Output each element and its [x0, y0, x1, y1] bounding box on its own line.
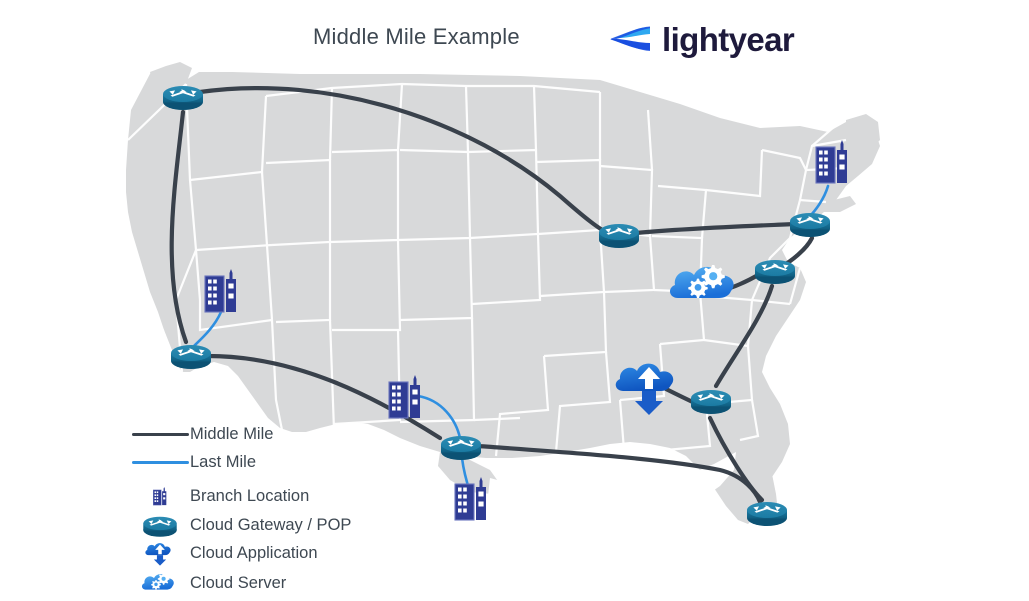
router-pop-icon[interactable] — [691, 390, 731, 414]
cloud-server-icon — [130, 566, 190, 600]
cloud-application-icon — [130, 536, 190, 570]
legend-item-last-mile[interactable]: Last Mile — [130, 453, 256, 472]
router-pop-icon[interactable] — [441, 436, 481, 460]
legend-item-cloud-server[interactable]: Cloud Server — [130, 566, 286, 600]
legend-item-middle-mile[interactable]: Middle Mile — [130, 425, 273, 444]
last-mile-line-icon — [130, 461, 190, 464]
router-pop-icon[interactable] — [747, 502, 787, 526]
router-pop-icon[interactable] — [599, 224, 639, 248]
router-pop-icon[interactable] — [163, 86, 203, 110]
legend-label: Cloud Application — [190, 544, 318, 563]
branch-building-icon[interactable] — [455, 477, 486, 520]
legend-label: Middle Mile — [190, 425, 273, 444]
diagram-canvas: Middle Mile Example lightyear — [0, 0, 1029, 601]
branch-building-icon[interactable] — [389, 375, 420, 418]
legend-item-cloud-application[interactable]: Cloud Application — [130, 536, 318, 570]
legend-label: Cloud Server — [190, 574, 286, 593]
branch-building-icon[interactable] — [205, 269, 236, 312]
legend-label: Branch Location — [190, 487, 309, 506]
router-pop-icon[interactable] — [790, 213, 830, 237]
legend-label: Cloud Gateway / POP — [190, 516, 351, 535]
router-pop-icon[interactable] — [755, 260, 795, 284]
router-pop-icon[interactable] — [171, 345, 211, 369]
middle-mile-line-icon — [130, 433, 190, 436]
legend-label: Last Mile — [190, 453, 256, 472]
